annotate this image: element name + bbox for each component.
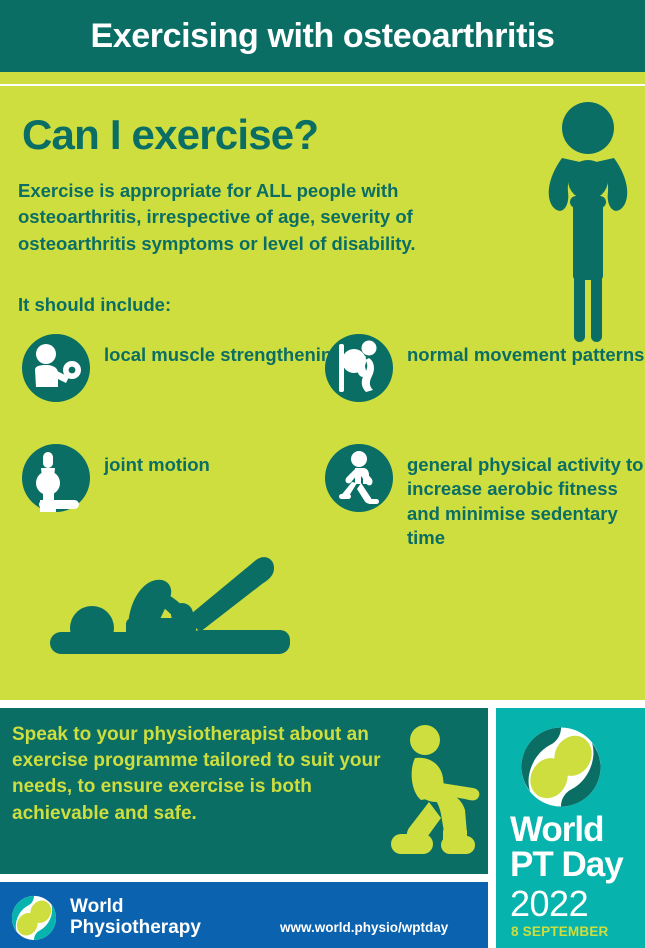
world-pt-day-pinwheel-logo — [518, 724, 604, 815]
list-item: local muscle strengthening — [22, 334, 344, 402]
main-panel: Can I exercise? Exercise is appropriate … — [0, 86, 645, 700]
header-bar: Exercising with osteoarthritis — [0, 0, 645, 72]
wptday-year: 2022 — [510, 886, 588, 922]
joint-hinge-icon — [22, 444, 90, 512]
callout-text: Speak to your physiotherapist about an e… — [12, 722, 382, 827]
footer-org-line2: Physiotherapy — [70, 917, 201, 938]
list-item: general physical activity to increase ae… — [325, 444, 645, 551]
world-pt-day-panel: World PT Day 2022 8 SEPTEMBER — [496, 708, 645, 948]
main-subheading: It should include: — [18, 294, 171, 316]
footer-bar: World Physiotherapy www.world.physio/wpt… — [0, 882, 488, 948]
list-item: joint motion — [22, 444, 210, 512]
main-paragraph: Exercise is appropriate for ALL people w… — [18, 178, 518, 257]
main-heading: Can I exercise? — [22, 111, 318, 159]
person-at-wall-posture-icon — [325, 334, 393, 402]
wptday-date: 8 SEPTEMBER — [511, 924, 608, 939]
person-kneeling-lunge-icon — [385, 722, 485, 865]
person-holding-ball-overhead-icon — [540, 96, 636, 351]
list-item-label: local muscle strengthening — [104, 334, 344, 367]
world-physiotherapy-pinwheel-logo — [10, 894, 58, 947]
list-item: normal movement patterns — [325, 334, 644, 402]
person-with-dumbbell-icon — [22, 334, 90, 402]
footer-org-line1: World — [70, 896, 201, 917]
walking-person-icon — [325, 444, 393, 512]
header-band: Exercising with osteoarthritis — [0, 0, 645, 84]
callout-panel: Speak to your physiotherapist about an e… — [0, 708, 488, 874]
list-item-label: normal movement patterns — [407, 334, 644, 367]
person-lying-leg-raise-icon — [50, 546, 310, 663]
wptday-line2: PT Day — [510, 848, 623, 882]
poster-root: Exercising with osteoarthritis Can I exe… — [0, 0, 645, 948]
wptday-line1: World — [510, 813, 604, 847]
page-title: Exercising with osteoarthritis — [90, 19, 554, 53]
list-item-label: joint motion — [104, 444, 210, 477]
list-item-label: general physical activity to increase ae… — [407, 444, 645, 551]
footer-url[interactable]: www.world.physio/wptday — [280, 920, 448, 935]
footer-org-name: World Physiotherapy — [70, 896, 201, 939]
